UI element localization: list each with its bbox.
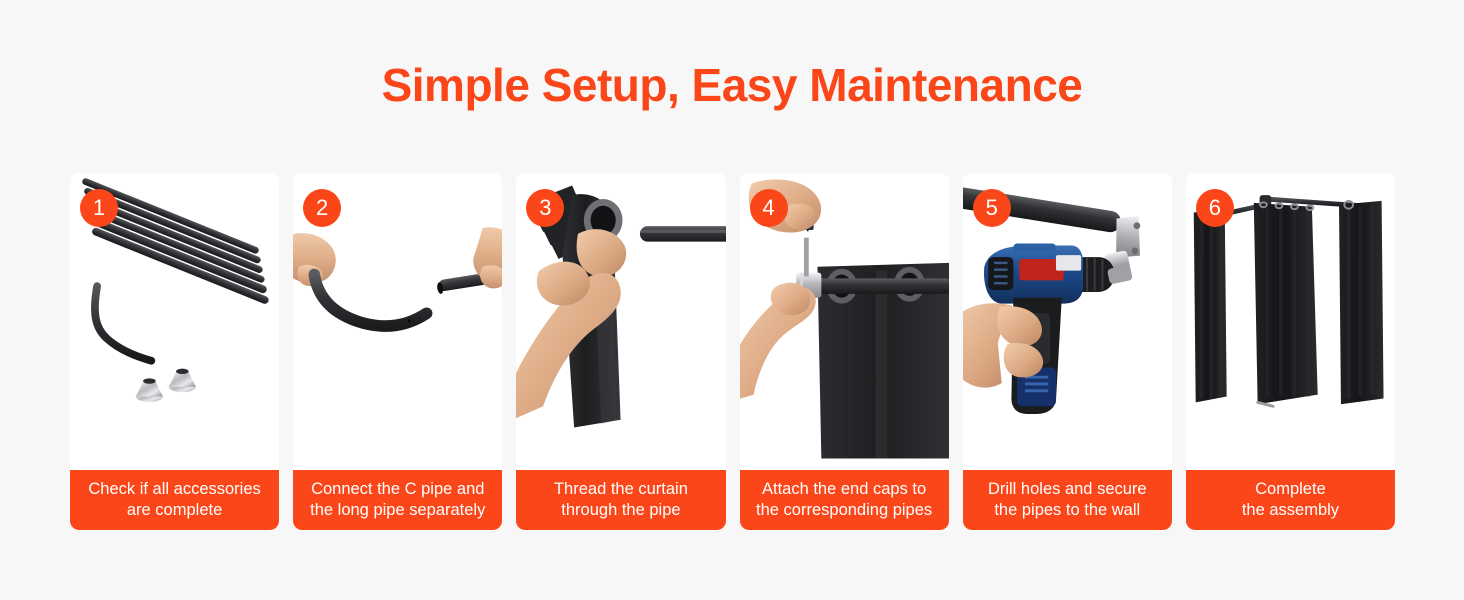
step-number-badge-5: 5 bbox=[973, 189, 1011, 227]
step-card-5[interactable]: 5 bbox=[963, 173, 1172, 530]
steps-row: 1 bbox=[70, 173, 1395, 530]
step-card-4[interactable]: 4 bbox=[740, 173, 949, 530]
step-caption-6: Complete the assembly bbox=[1186, 470, 1395, 530]
step-number-badge-6: 6 bbox=[1196, 189, 1234, 227]
step-caption-4: Attach the end caps to the corresponding… bbox=[740, 470, 949, 530]
page-title: Simple Setup, Easy Maintenance bbox=[0, 62, 1464, 108]
step-number-badge-1: 1 bbox=[80, 189, 118, 227]
step-card-1[interactable]: 1 bbox=[70, 173, 279, 530]
step-caption-1: Check if all accessories are complete bbox=[70, 470, 279, 530]
step-number-badge-4: 4 bbox=[750, 189, 788, 227]
step-number-badge-2: 2 bbox=[303, 189, 341, 227]
step-caption-5: Drill holes and secure the pipes to the … bbox=[963, 470, 1172, 530]
step-caption-2: Connect the C pipe and the long pipe sep… bbox=[293, 470, 502, 530]
step-caption-3: Thread the curtain through the pipe bbox=[516, 470, 725, 530]
step-card-6[interactable]: 6 bbox=[1186, 173, 1395, 530]
step-card-3[interactable]: 3 bbox=[516, 173, 725, 530]
step-card-2[interactable]: 2 bbox=[293, 173, 502, 530]
